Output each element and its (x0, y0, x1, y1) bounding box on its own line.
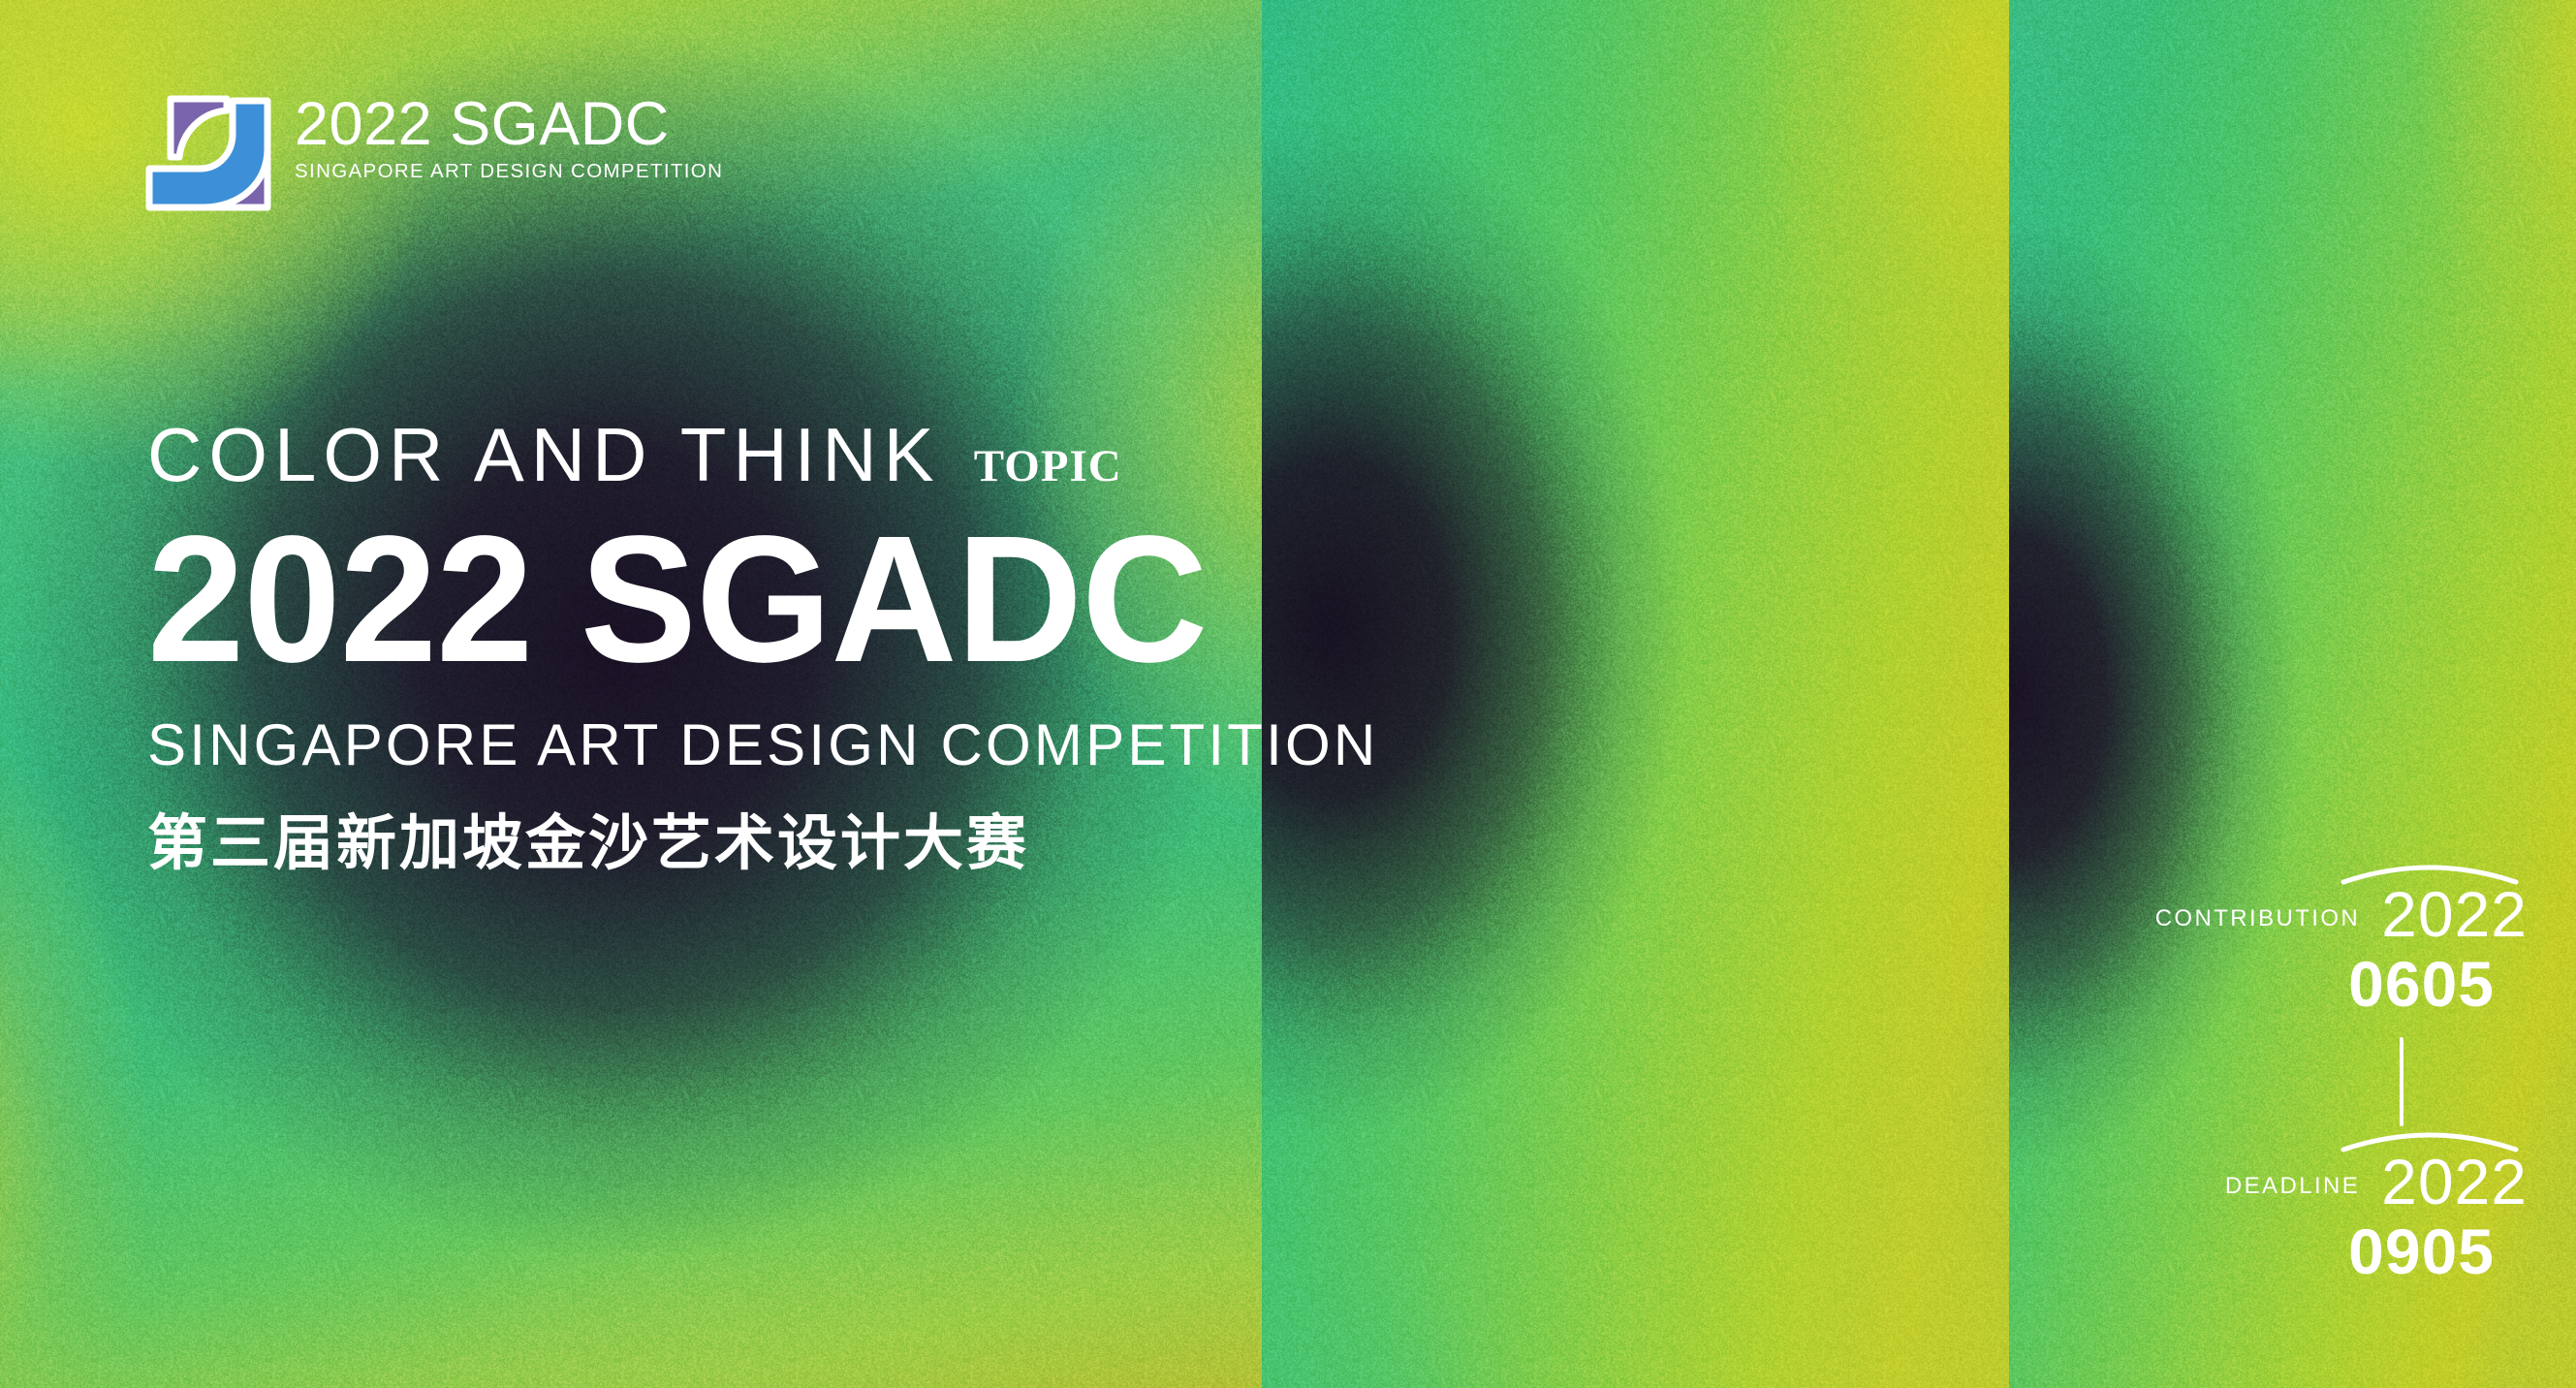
contribution-monthday: 0605 (2101, 952, 2528, 1016)
deadline-year: 2022 (2381, 1150, 2528, 1214)
logo-wordmark: 2022 SGADC SINGAPORE ART DESIGN COMPETIT… (295, 93, 723, 183)
main-title: 2022 SGADC (147, 510, 1341, 690)
deadline-arc-icon (2340, 1120, 2520, 1153)
headline-block: COLOR AND THINK TOPIC 2022 SGADC SINGAPO… (147, 417, 1378, 881)
logo-lockup[interactable]: 2022 SGADC SINGAPORE ART DESIGN COMPETIT… (143, 93, 723, 213)
date-block: CONTRIBUTION 2022 0605 DEADLINE 2022 090… (2101, 882, 2528, 1283)
tagline-row: COLOR AND THINK TOPIC (147, 417, 1378, 492)
topic-label: TOPIC (974, 444, 1122, 489)
contribution-arc-icon (2340, 853, 2520, 886)
deadline-label: DEADLINE (2225, 1173, 2360, 1214)
deadline-group: DEADLINE 2022 0905 (2101, 1150, 2528, 1283)
logo-title: 2022 SGADC (295, 97, 723, 153)
deadline-row: DEADLINE 2022 (2101, 1150, 2528, 1214)
poster-canvas: 2022 SGADC SINGAPORE ART DESIGN COMPETIT… (0, 0, 2576, 1388)
contribution-group: CONTRIBUTION 2022 0605 (2101, 882, 2528, 1016)
sgadc-logo-mark-icon (143, 93, 273, 213)
tagline: COLOR AND THINK (147, 417, 941, 492)
contribution-row: CONTRIBUTION 2022 (2101, 882, 2528, 946)
contribution-label: CONTRIBUTION (2155, 905, 2360, 946)
subtitle-chinese: 第三届新加坡金沙艺术设计大赛 (147, 794, 1378, 881)
contribution-year: 2022 (2381, 882, 2528, 946)
poster-content: 2022 SGADC SINGAPORE ART DESIGN COMPETIT… (0, 0, 2576, 1388)
logo-subtitle: SINGAPORE ART DESIGN COMPETITION (295, 160, 723, 183)
subtitle-english: SINGAPORE ART DESIGN COMPETITION (147, 711, 1378, 778)
date-separator-line (2400, 1037, 2403, 1126)
deadline-monthday: 0905 (2101, 1219, 2528, 1283)
